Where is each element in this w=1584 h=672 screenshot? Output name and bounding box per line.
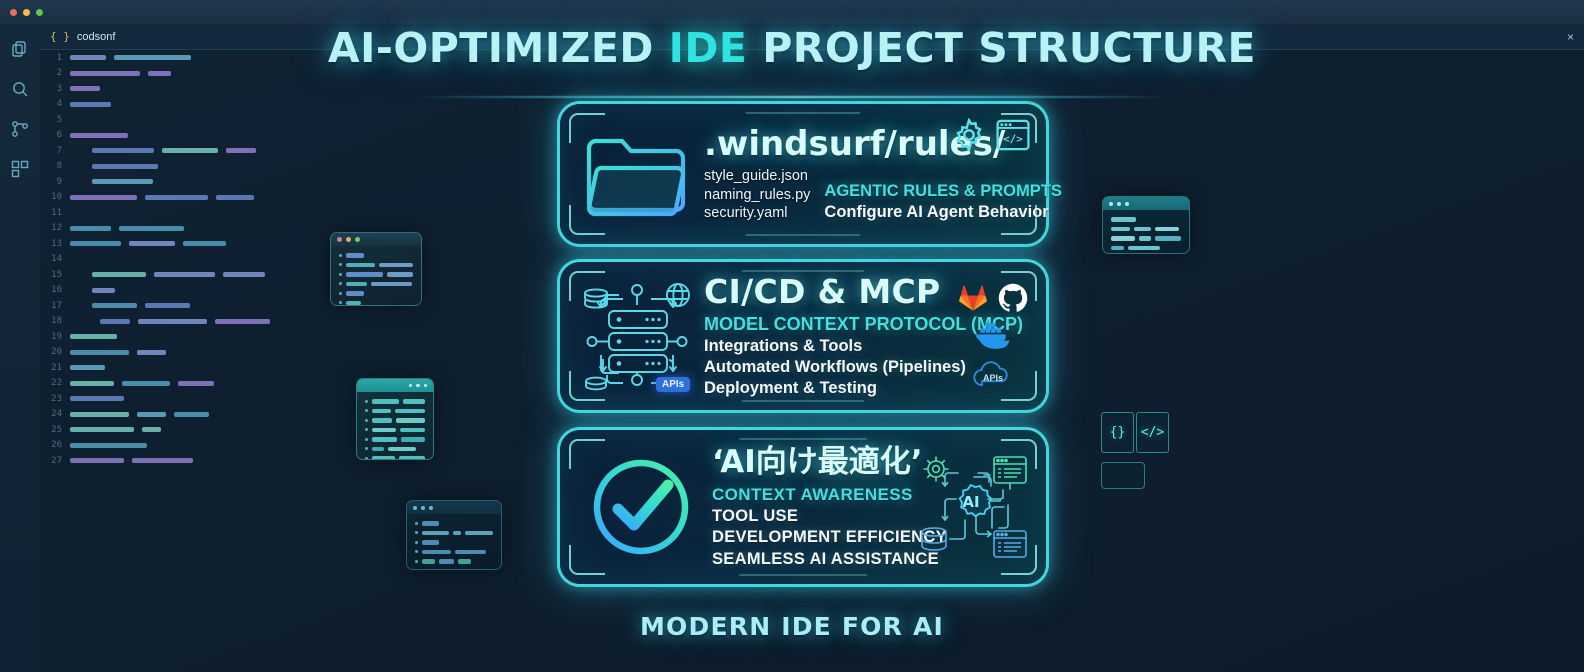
line-number: 8: [48, 161, 62, 171]
code-token: [70, 396, 124, 401]
bullet-dot: [365, 419, 368, 422]
line-number: 13: [48, 239, 62, 249]
ai-hub-badge: AI: [960, 485, 992, 516]
panel-token: [372, 399, 399, 404]
line-number: 15: [48, 270, 62, 280]
bullet-dot: [339, 263, 342, 266]
bullet-dot: [415, 560, 418, 563]
panel-token: [1155, 236, 1181, 241]
code-token: [70, 458, 124, 463]
line-number: 18: [48, 316, 62, 326]
panel-token: [465, 531, 493, 536]
apis-badge: APIs: [656, 377, 690, 392]
code-token: [122, 381, 171, 386]
panel-token: [372, 428, 396, 433]
line-number: 6: [48, 130, 62, 140]
panel-token: [422, 569, 454, 571]
line-number: 21: [48, 363, 62, 373]
panel-token: [455, 550, 486, 555]
code-token: [137, 350, 167, 355]
panel-token: [372, 456, 395, 460]
panel-token: [400, 428, 425, 433]
file-list-item: security.yaml: [704, 204, 810, 223]
panel-line: [339, 301, 413, 306]
check-circle-icon: [584, 450, 698, 564]
panel-line: [415, 521, 493, 526]
card-1-desc-white: Configure AI Agent Behavior: [824, 202, 1061, 223]
gear-icon[interactable]: [952, 118, 986, 152]
mini-dot-yellow: [346, 237, 351, 242]
panel-token: [399, 456, 425, 460]
code-token: [138, 319, 207, 324]
docker-logo[interactable]: [974, 322, 1012, 350]
line-number: 27: [48, 456, 62, 466]
bullet-dot: [365, 428, 368, 431]
code-token: [216, 195, 254, 200]
code-line: 3: [40, 81, 1584, 97]
code-token: [142, 427, 160, 432]
code-token: [92, 148, 154, 153]
code-token: [70, 381, 114, 386]
card-2-title: CI/CD & MCP: [704, 274, 956, 310]
mini-dot: [429, 506, 433, 510]
code-token: [70, 241, 121, 246]
floating-filetree-panel: [356, 378, 434, 460]
bullet-dot: [365, 438, 368, 441]
panel-line: [415, 531, 493, 536]
panel-token: [346, 253, 364, 258]
panel-token: [372, 418, 392, 423]
code-token: [223, 272, 265, 277]
file-list-item: naming_rules.py: [704, 186, 810, 205]
panel-token: [453, 531, 461, 536]
line-number: 16: [48, 285, 62, 295]
mini-code-lines: [407, 514, 501, 570]
line-number: 19: [48, 332, 62, 342]
panel-token: [371, 282, 412, 287]
window-close-dot[interactable]: [10, 9, 17, 16]
card-3-logos: AI: [912, 447, 1030, 567]
bullet-dot: [365, 457, 368, 460]
line-number: 20: [48, 347, 62, 357]
bullet-dot: [339, 301, 342, 304]
panel-token: [346, 272, 383, 277]
panel-line: [365, 456, 425, 460]
mini-dot-green: [355, 237, 360, 242]
mini-dot: [424, 384, 428, 388]
panel-token: [372, 447, 384, 452]
code-token: [178, 381, 214, 386]
panel-line: [339, 263, 413, 268]
code-token: [70, 350, 129, 355]
code-token: [70, 427, 134, 432]
line-number: 24: [48, 409, 62, 419]
card-3-title: ‘AI向け最適化’: [712, 444, 912, 480]
bullet-dot: [415, 541, 418, 544]
line-number: 11: [48, 208, 62, 218]
mini-terminal-lines: [1103, 210, 1189, 254]
card-3-text: ‘AI向け最適化’ CONTEXT AWARENESS TOOL USE DEV…: [704, 444, 912, 571]
panel-line: [365, 428, 425, 433]
code-token: [92, 164, 158, 169]
panel-token: [422, 559, 435, 564]
page-title-wrap: AI-OPTIMIZED IDE PROJECT STRUCTURE: [0, 24, 1584, 72]
floating-terminal-panel: [1102, 196, 1190, 254]
floating-code-panel-1: [330, 232, 422, 306]
code-token: [119, 226, 184, 231]
mini-dot: [409, 384, 413, 388]
code-token: [92, 272, 146, 277]
code-token: [70, 133, 128, 138]
ide-titlebar: [0, 0, 1584, 24]
code-token: [70, 86, 100, 91]
panel-token: [439, 559, 453, 564]
panel-token: [422, 531, 449, 536]
card-3-line-2: DEVELOPMENT EFFICIENCY: [712, 527, 912, 549]
card-1-text: .windsurf/rules/ style_guide.json naming…: [696, 125, 952, 223]
panel-token: [458, 569, 470, 571]
github-logo[interactable]: [998, 283, 1028, 313]
code-token: [215, 319, 270, 324]
bullet-dot: [365, 409, 368, 412]
code-token: [70, 443, 147, 448]
line-number: 23: [48, 394, 62, 404]
panel-line: [1111, 246, 1181, 251]
code-token: [183, 241, 226, 246]
file-list-item: style_guide.json: [704, 167, 810, 186]
search-icon[interactable]: [11, 80, 29, 98]
card-1-desc-accent: AGENTIC RULES & PROMPTS: [824, 181, 1061, 202]
panel-token: [372, 437, 397, 442]
card-ai-optimization[interactable]: ‘AI向け最適化’ CONTEXT AWARENESS TOOL USE DEV…: [560, 430, 1046, 584]
code-token: [162, 148, 217, 153]
source-control-icon[interactable]: [11, 120, 29, 138]
title-underline: [412, 96, 1172, 98]
terminal-tile-icon: [1101, 462, 1145, 489]
panel-line: [365, 418, 425, 423]
panel-token: [1128, 246, 1160, 251]
panel-token: [403, 399, 425, 404]
code-token: [226, 148, 256, 153]
code-token: [70, 102, 111, 107]
line-number: 5: [48, 115, 62, 125]
code-token: [70, 226, 111, 231]
bullet-dot: [415, 531, 418, 534]
panel-token: [346, 301, 361, 306]
panel-token: [387, 272, 414, 277]
floating-code-panel-2: [406, 500, 502, 570]
panel-line: [1111, 217, 1181, 222]
card-cicd-mcp[interactable]: CI/CD & MCP MODEL CONTEXT PROTOCOL (MCP)…: [560, 262, 1046, 410]
panel-token: [395, 409, 425, 414]
panel-token: [379, 263, 413, 268]
panel-line: [365, 399, 425, 404]
window-minimize-dot[interactable]: [23, 9, 30, 16]
code-token: [92, 288, 115, 293]
mini-titlebar: [331, 233, 421, 246]
card-2-text: CI/CD & MCP MODEL CONTEXT PROTOCOL (MCP)…: [696, 274, 956, 399]
panel-token: [346, 291, 364, 296]
bullet-dot: [339, 273, 342, 276]
panel-line: [415, 540, 493, 545]
code-token: [70, 412, 129, 417]
mini-dot: [416, 384, 420, 388]
code-token: [129, 241, 175, 246]
line-number: 17: [48, 301, 62, 311]
card-3-line-1: TOOL USE: [712, 506, 912, 528]
bullet-dot: [415, 522, 418, 525]
mini-code-lines: [331, 246, 421, 306]
panel-line: [1111, 236, 1181, 241]
panel-token: [372, 409, 391, 414]
card-windsurf-rules[interactable]: .windsurf/rules/ style_guide.json naming…: [560, 104, 1046, 244]
svg-text:</>: </>: [1003, 132, 1023, 145]
card-1-file-list: style_guide.json naming_rules.py securit…: [704, 165, 810, 223]
code-token: [70, 334, 117, 339]
panel-token: [1139, 236, 1150, 241]
mini-titlebar: [1103, 197, 1189, 210]
line-number: 10: [48, 192, 62, 202]
panel-token: [401, 437, 425, 442]
bullet-dot: [339, 282, 342, 285]
panel-token: [346, 282, 367, 287]
footer-banner: MODERN IDE FOR AI: [0, 594, 1584, 664]
footer-label: MODERN IDE FOR AI: [0, 612, 1584, 641]
panel-line: [339, 272, 413, 277]
line-number: 26: [48, 440, 62, 450]
panel-token: [396, 418, 425, 423]
mini-dot: [1109, 202, 1113, 206]
bullet-dot: [365, 400, 368, 403]
window-maximize-dot[interactable]: [36, 9, 43, 16]
bullet-dot: [365, 447, 368, 450]
panel-token: [1111, 246, 1124, 251]
mini-dot: [1125, 202, 1129, 206]
card-1-desc: AGENTIC RULES & PROMPTS Configure AI Age…: [824, 181, 1061, 223]
line-number: 3: [48, 84, 62, 94]
apis-cloud-label: APIs: [983, 373, 1003, 383]
mini-titlebar: [407, 501, 501, 514]
code-token: [145, 195, 208, 200]
code-token: [70, 195, 137, 200]
card-2-line-accent: MODEL CONTEXT PROTOCOL (MCP): [704, 313, 956, 336]
code-window-icon[interactable]: </>: [996, 119, 1030, 151]
ide-activity-bar: [0, 24, 40, 672]
line-number: 7: [48, 146, 62, 156]
title-part-accent: IDE: [669, 24, 748, 72]
panel-token: [346, 263, 375, 268]
infographic-canvas: { } codsonf × 12345678910111213141516171…: [0, 0, 1584, 672]
card-2-logos: APIs: [956, 283, 1030, 389]
code-token: [137, 412, 165, 417]
card-2-line-2: Automated Workflows (Pipelines): [704, 357, 956, 378]
panel-line: [365, 409, 425, 414]
extensions-icon[interactable]: [11, 160, 29, 178]
card-2-line-3: Deployment & Testing: [704, 378, 956, 399]
bullet-dot: [339, 292, 342, 295]
card-2-line-1: Integrations & Tools: [704, 336, 956, 357]
ai-badge-label: AI: [962, 493, 979, 511]
panel-line: [339, 253, 413, 258]
panel-line: [415, 550, 493, 555]
panel-token: [422, 540, 439, 545]
title-part-after: PROJECT STRUCTURE: [747, 24, 1256, 72]
apis-cloud-icon[interactable]: APIs: [970, 359, 1016, 389]
braces-file-icon: {}: [1101, 412, 1134, 453]
bullet-dot: [339, 254, 342, 257]
mini-dot-red: [337, 237, 342, 242]
check-circle-icon-wrap: [578, 450, 704, 564]
folder-icon-wrap: [578, 128, 696, 220]
panel-line: [339, 282, 413, 287]
panel-token: [1111, 217, 1136, 222]
line-number: 25: [48, 425, 62, 435]
panel-token: [422, 550, 451, 555]
card-1-title: .windsurf/rules/: [704, 125, 952, 163]
code-token: [132, 458, 193, 463]
gitlab-logo[interactable]: [958, 284, 988, 312]
card-1-logos: </>: [952, 118, 1030, 152]
panel-token: [1155, 227, 1179, 232]
mini-dot: [1117, 202, 1121, 206]
code-token: [145, 303, 190, 308]
ai-workflow-diagram: AI: [912, 447, 1030, 567]
line-number: 9: [48, 177, 62, 187]
panel-line: [339, 291, 413, 296]
panel-token: [422, 521, 439, 526]
mini-dot: [413, 506, 417, 510]
mini-titlebar: [357, 379, 433, 392]
line-number: 12: [48, 223, 62, 233]
title-part-before: AI-OPTIMIZED: [328, 24, 669, 72]
panel-line: [365, 437, 425, 442]
mini-tree-rows: [357, 392, 433, 460]
line-number: 14: [48, 254, 62, 264]
bullet-dot: [415, 550, 418, 553]
card-3-line-3: SEAMLESS AI ASSISTANCE: [712, 549, 912, 571]
code-token: [92, 303, 137, 308]
panel-line: [415, 569, 493, 571]
bullet-dot: [415, 569, 418, 570]
panel-token: [458, 559, 471, 564]
code-token: [70, 365, 105, 370]
code-token: [100, 319, 130, 324]
panel-token: [388, 447, 416, 452]
code-token: [154, 272, 215, 277]
panel-token: [1111, 236, 1135, 241]
card-3-line-accent: CONTEXT AWARENESS: [712, 484, 912, 506]
folder-icon: [581, 128, 693, 220]
mini-dot: [421, 506, 425, 510]
code-token: [174, 412, 209, 417]
line-number: 22: [48, 378, 62, 388]
code-file-icon: </>: [1136, 412, 1169, 453]
code-token: [92, 179, 153, 184]
panel-line: [415, 559, 493, 564]
panel-line: [365, 447, 425, 452]
page-title: AI-OPTIMIZED IDE PROJECT STRUCTURE: [0, 24, 1584, 72]
line-number: 4: [48, 99, 62, 109]
panel-line: [1111, 227, 1181, 232]
panel-token: [1134, 227, 1150, 232]
panel-token: [1111, 227, 1130, 232]
